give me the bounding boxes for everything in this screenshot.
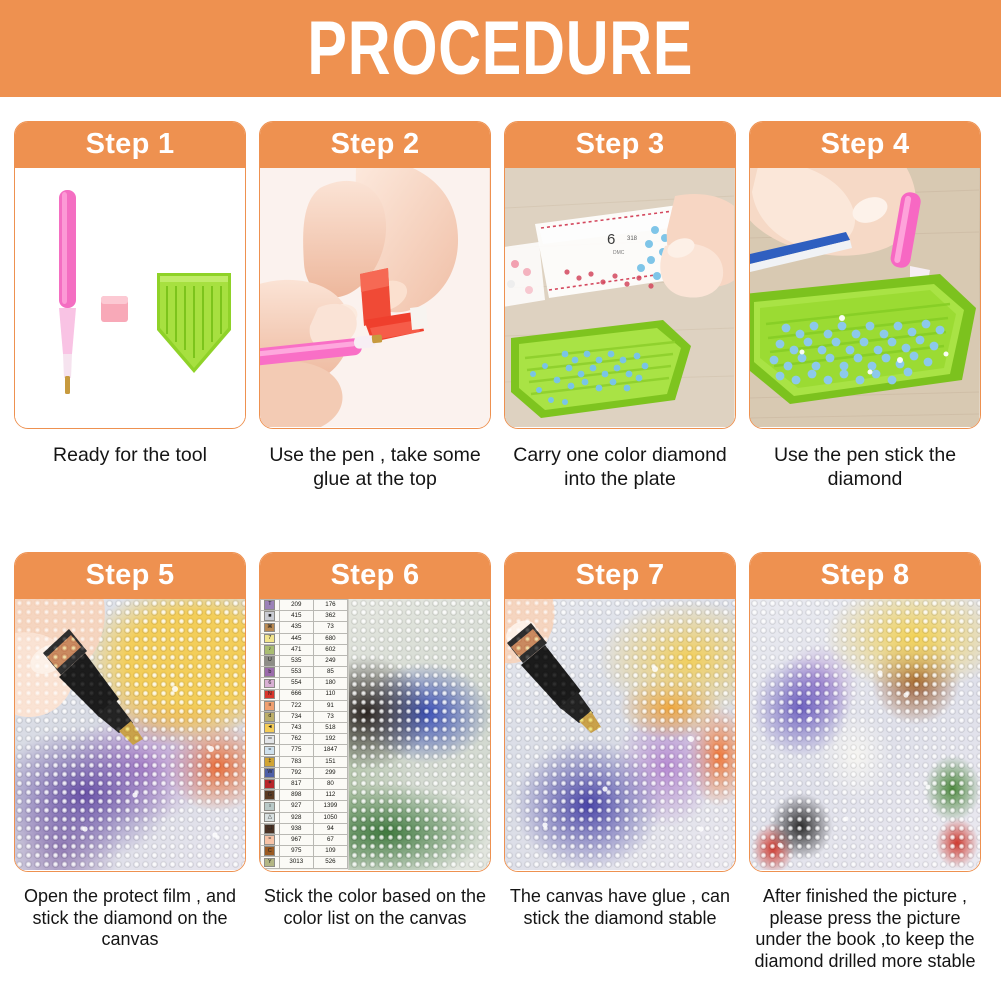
color-chart-row: ‡783151 — [261, 756, 348, 767]
color-chart-row: 7445680 — [261, 633, 348, 644]
step-card-8[interactable]: Step 8 — [749, 552, 981, 872]
pen-tray-svg — [750, 168, 979, 427]
color-chart-count-cell: 526 — [313, 857, 347, 868]
color-chart-row: ■415362 — [261, 611, 348, 622]
color-swatch-icon: ■ — [264, 611, 275, 621]
color-chart-row: ═762192 — [261, 734, 348, 745]
mosaic-texture — [750, 599, 980, 870]
hand-pen-overlay-5 — [15, 599, 244, 870]
color-chart-count-cell: 67 — [313, 834, 347, 845]
color-chart-dmc-cell: 967 — [279, 834, 313, 845]
color-chart-symbol-cell: ♀ — [261, 801, 280, 812]
color-chart-count-cell: 109 — [313, 846, 347, 857]
color-chart-row: d73473 — [261, 711, 348, 722]
step-badge-label: Step 3 — [576, 130, 665, 159]
step-card-3[interactable]: Step 3 — [504, 121, 736, 429]
step-card-1[interactable]: Step 1 — [14, 121, 246, 429]
color-chart-symbol-cell: ♪ — [261, 644, 280, 655]
step-header-4: Step 4 — [749, 121, 981, 168]
color-chart-row: ◄743518 — [261, 723, 348, 734]
color-swatch-icon: ◄ — [264, 723, 275, 733]
color-swatch-icon: ♪ — [264, 645, 275, 655]
color-chart-symbol-cell: ═ — [261, 734, 280, 745]
pour-diamonds-svg: 6 318 DMC — [505, 168, 734, 427]
step-cell-1: Step 1 — [14, 121, 246, 467]
step-badge-label: Step 2 — [331, 130, 420, 159]
color-chart-row: ıı72291 — [261, 700, 348, 711]
color-chart-dmc-cell: 743 — [279, 723, 313, 734]
color-swatch-icon: ⌘ — [264, 623, 275, 633]
illustration-tools — [15, 168, 245, 427]
color-chart-dmc-cell: 722 — [279, 700, 313, 711]
color-swatch-icon: 6 — [264, 679, 275, 689]
color-chart-symbol-cell: ◄ — [261, 723, 280, 734]
color-chart-dmc-cell: 554 — [279, 678, 313, 689]
color-chart-count-cell: 176 — [313, 600, 347, 611]
step-cell-6: Step 6 T209176■415362⌘435737445680♪47160… — [259, 552, 491, 929]
color-swatch-icon: ♀ — [264, 802, 275, 812]
color-chart-count-cell: 680 — [313, 633, 347, 644]
hand-pen-overlay-7 — [505, 599, 734, 870]
wax-block-icon — [101, 296, 128, 322]
color-swatch-icon: ıı — [264, 701, 275, 711]
color-chart-dmc-cell: 435 — [279, 622, 313, 633]
step-card-4[interactable]: Step 4 — [749, 121, 981, 429]
color-chart-symbol-cell: ıı — [261, 700, 280, 711]
color-chart-row: ✶81780 — [261, 779, 348, 790]
color-chart-symbol-cell: Y — [261, 857, 280, 868]
step-header-6: Step 6 — [259, 552, 491, 599]
color-swatch-icon: C — [264, 846, 275, 856]
color-swatch-icon: T — [264, 600, 275, 610]
color-swatch-icon: N — [264, 690, 275, 700]
step-image-8 — [750, 599, 980, 870]
step-cell-4: Step 4 — [749, 121, 981, 491]
color-chart-row: △9281050 — [261, 812, 348, 823]
color-chart-symbol-cell: ‡ — [261, 756, 280, 767]
step-caption-1: Ready for the tool — [14, 443, 246, 467]
illustration-pour-diamonds: 6 318 DMC — [505, 168, 735, 427]
step-image-6: T209176■415362⌘435737445680♪471602U53524… — [260, 599, 490, 870]
color-swatch-icon: U — [264, 656, 275, 666]
step-caption-6: Stick the color based on the color list … — [259, 886, 491, 929]
step-image-4 — [750, 168, 980, 427]
color-chart-row: G898112 — [261, 790, 348, 801]
mosaic-texture — [505, 599, 735, 870]
color-chart-count-cell: 73 — [313, 711, 347, 722]
color-chart-dmc-cell: 975 — [279, 846, 313, 857]
step-cell-3: Step 3 — [504, 121, 736, 491]
color-chart-dmc-cell: 666 — [279, 689, 313, 700]
color-swatch-icon: b — [264, 667, 275, 677]
step-card-7[interactable]: Step 7 — [504, 552, 736, 872]
step-caption-7: The canvas have glue , can stick the dia… — [504, 886, 736, 929]
color-swatch-icon: ✶ — [264, 779, 275, 789]
color-chart-count-cell: 73 — [313, 622, 347, 633]
color-chart-count-cell: 602 — [313, 644, 347, 655]
color-swatch-icon: ‡ — [264, 757, 275, 767]
color-chart-dmc-cell: 535 — [279, 655, 313, 666]
color-chart-symbol-cell: U — [261, 655, 280, 666]
color-chart-dmc-cell: 734 — [279, 711, 313, 722]
color-chart-symbol-cell: 7 — [261, 633, 280, 644]
color-chart-count-cell: 518 — [313, 723, 347, 734]
step-image-2 — [260, 168, 490, 427]
color-swatch-icon: ═ — [264, 735, 275, 745]
color-chart-dmc-cell: 928 — [279, 812, 313, 823]
color-chart-symbol-cell: ⌘ — [261, 622, 280, 633]
step-caption-8: After finished the picture , please pres… — [749, 886, 981, 972]
illustration-pen-glue — [260, 168, 490, 427]
illustration-pen-tray — [750, 168, 980, 427]
mosaic-texture — [15, 599, 245, 870]
page-header-banner: PROCEDURE — [0, 0, 1001, 97]
color-chart-symbol-cell: ■ — [261, 611, 280, 622]
pen-glue-svg — [260, 168, 489, 427]
color-swatch-icon: ❑ — [264, 824, 275, 834]
step-caption-5: Open the protect film , and stick the di… — [14, 886, 246, 951]
black-pen-icon — [507, 623, 601, 733]
tools-svg — [15, 168, 244, 427]
color-chart-row: U535249 — [261, 655, 348, 666]
color-chart-symbol-cell: 6 — [261, 678, 280, 689]
step-card-6[interactable]: Step 6 T209176■415362⌘435737445680♪47160… — [259, 552, 491, 872]
color-chart-body: T209176■415362⌘435737445680♪471602U53524… — [261, 600, 348, 869]
steps-row-top: Step 1 — [0, 121, 1001, 561]
step-header-7: Step 7 — [504, 552, 736, 599]
steps-grid: Step 1 — [0, 97, 1001, 1001]
color-chart-count-cell: 1847 — [313, 745, 347, 756]
step-header-1: Step 1 — [14, 121, 246, 168]
color-swatch-icon: ≈ — [264, 835, 275, 845]
steps-row-bottom: Step 5 — [0, 552, 1001, 1001]
color-chart-symbol-cell: ≈ — [261, 834, 280, 845]
color-swatch-icon: W — [264, 768, 275, 778]
color-chart-symbol-cell: G — [261, 790, 280, 801]
step-cell-8: Step 8 After finished the picture , — [749, 552, 981, 972]
color-chart-row: ≈96767 — [261, 834, 348, 845]
color-chart-row: Y3013526 — [261, 857, 348, 868]
color-chart-count-cell: 110 — [313, 689, 347, 700]
color-chart-dmc-cell: 817 — [279, 779, 313, 790]
color-chart-row: ≈7751847 — [261, 745, 348, 756]
color-chart-count-cell: 80 — [313, 779, 347, 790]
color-chart-row: ⌘43573 — [261, 622, 348, 633]
svg-text:318: 318 — [627, 236, 638, 242]
sparkle-overlay-8 — [750, 599, 979, 870]
color-chart-row: N666110 — [261, 689, 348, 700]
step-badge-label: Step 8 — [821, 561, 910, 590]
step-caption-2: Use the pen , take some glue at the top — [259, 443, 491, 491]
color-chart-count-cell: 151 — [313, 756, 347, 767]
color-chart-count-cell: 192 — [313, 734, 347, 745]
step-badge-label: Step 6 — [331, 561, 420, 590]
color-chart-dmc-cell: 938 — [279, 823, 313, 834]
color-chart-symbol-cell: △ — [261, 812, 280, 823]
svg-text:DMC: DMC — [613, 250, 625, 256]
color-chart-symbol-cell: ✶ — [261, 779, 280, 790]
color-chart-dmc-cell: 209 — [279, 600, 313, 611]
color-swatch-icon: ≈ — [264, 746, 275, 756]
color-swatch-icon: △ — [264, 813, 275, 823]
color-chart-dmc-cell: 898 — [279, 790, 313, 801]
pink-pen-icon — [59, 190, 76, 394]
color-chart-count-cell: 91 — [313, 700, 347, 711]
step-caption-4: Use the pen stick the diamond — [749, 443, 981, 491]
color-chart-dmc-cell: 3013 — [279, 857, 313, 868]
svg-text:6: 6 — [607, 231, 615, 248]
color-chart-dmc-cell: 783 — [279, 756, 313, 767]
step-cell-5: Step 5 — [14, 552, 246, 951]
color-swatch-icon: 7 — [264, 634, 275, 644]
color-chart-row: ❑93894 — [261, 823, 348, 834]
step-badge-label: Step 4 — [821, 130, 910, 159]
step-caption-3: Carry one color diamond into the plate — [504, 443, 736, 491]
color-chart: T209176■415362⌘435737445680♪471602U53524… — [260, 599, 348, 869]
color-chart-dmc-cell: 415 — [279, 611, 313, 622]
step-image-1 — [15, 168, 245, 427]
color-chart-table: T209176■415362⌘435737445680♪471602U53524… — [260, 599, 349, 870]
color-chart-row: b55385 — [261, 667, 348, 678]
color-chart-symbol-cell: d — [261, 711, 280, 722]
color-chart-row: W792299 — [261, 767, 348, 778]
color-chart-count-cell: 1050 — [313, 812, 347, 823]
color-chart-dmc-cell: 775 — [279, 745, 313, 756]
step-image-3: 6 318 DMC — [505, 168, 735, 427]
step-badge-label: Step 1 — [86, 130, 175, 159]
page-title: PROCEDURE — [308, 11, 694, 87]
color-swatch-icon: d — [264, 712, 275, 722]
color-swatch-icon: G — [264, 790, 275, 800]
color-chart-dmc-cell: 762 — [279, 734, 313, 745]
color-chart-symbol-cell: W — [261, 767, 280, 778]
color-chart-row: T209176 — [261, 600, 348, 611]
step-badge-label: Step 7 — [576, 561, 665, 590]
color-chart-row: ♀9271399 — [261, 801, 348, 812]
color-chart-count-cell: 1399 — [313, 801, 347, 812]
color-chart-row: 6554180 — [261, 678, 348, 689]
color-chart-count-cell: 112 — [313, 790, 347, 801]
color-chart-symbol-cell: T — [261, 600, 280, 611]
color-chart-row: C975109 — [261, 846, 348, 857]
step-header-2: Step 2 — [259, 121, 491, 168]
color-chart-count-cell: 94 — [313, 823, 347, 834]
sparkles — [542, 666, 703, 832]
color-chart-dmc-cell: 927 — [279, 801, 313, 812]
black-pen-icon — [43, 629, 143, 745]
color-chart-row: ♪471602 — [261, 644, 348, 655]
step-header-3: Step 3 — [504, 121, 736, 168]
color-chart-count-cell: 180 — [313, 678, 347, 689]
step-image-7 — [505, 599, 735, 870]
color-chart-dmc-cell: 553 — [279, 667, 313, 678]
color-swatch-icon: Y — [264, 858, 275, 868]
color-chart-symbol-cell: ❑ — [261, 823, 280, 834]
illustration-canvas-pen-7 — [505, 599, 735, 870]
color-chart-symbol-cell: ≈ — [261, 745, 280, 756]
color-chart-count-cell: 299 — [313, 767, 347, 778]
color-chart-dmc-cell: 471 — [279, 644, 313, 655]
color-chart-symbol-cell: b — [261, 667, 280, 678]
illustration-canvas-pen-5 — [15, 599, 245, 870]
side-bag-icon — [505, 242, 545, 308]
step-cell-7: Step 7 — [504, 552, 736, 929]
color-chart-dmc-cell: 792 — [279, 767, 313, 778]
step-header-5: Step 5 — [14, 552, 246, 599]
color-chart-count-cell: 362 — [313, 611, 347, 622]
step-cell-2: Step 2 — [259, 121, 491, 491]
step-card-5[interactable]: Step 5 — [14, 552, 246, 872]
green-tray-icon — [157, 273, 231, 373]
color-chart-count-cell: 85 — [313, 667, 347, 678]
illustration-finished-canvas — [750, 599, 980, 870]
color-chart-count-cell: 249 — [313, 655, 347, 666]
color-chart-symbol-cell: N — [261, 689, 280, 700]
step-badge-label: Step 5 — [86, 561, 175, 590]
step-image-5 — [15, 599, 245, 870]
color-chart-symbol-cell: C — [261, 846, 280, 857]
step-card-2[interactable]: Step 2 — [259, 121, 491, 429]
color-chart-dmc-cell: 445 — [279, 633, 313, 644]
step-header-8: Step 8 — [749, 552, 981, 599]
sparkles — [82, 686, 217, 838]
